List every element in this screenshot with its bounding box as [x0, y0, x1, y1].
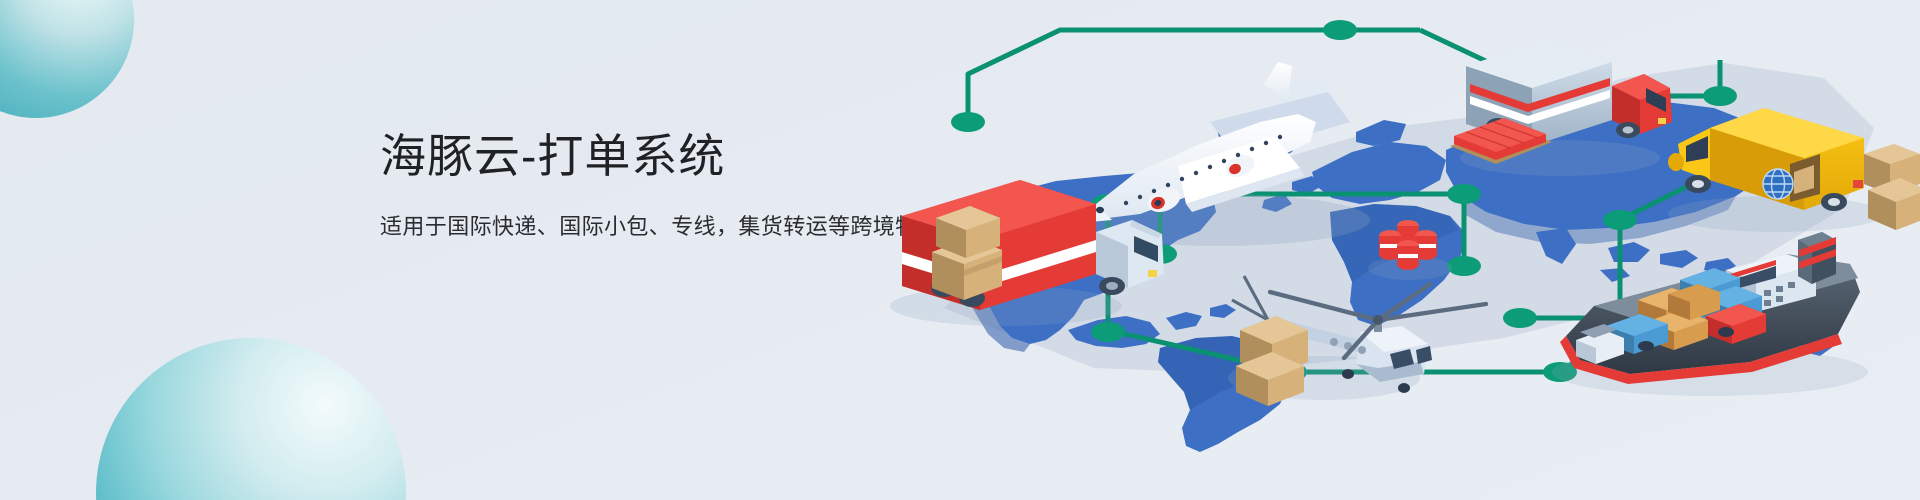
global-logistics-illustration	[860, 0, 1920, 500]
cardboard-boxes	[932, 206, 1002, 300]
cardboard-boxes	[1864, 144, 1920, 230]
hero-banner: 海豚云-打单系统 适用于国际快递、国际小包、专线，集货转运等跨境物流包裹处理	[0, 0, 1920, 500]
decorative-circle-bottom-left	[96, 338, 406, 500]
cardboard-boxes	[1236, 316, 1308, 406]
decorative-circle-top-left	[0, 0, 134, 118]
gray-box-truck	[1450, 40, 1672, 176]
